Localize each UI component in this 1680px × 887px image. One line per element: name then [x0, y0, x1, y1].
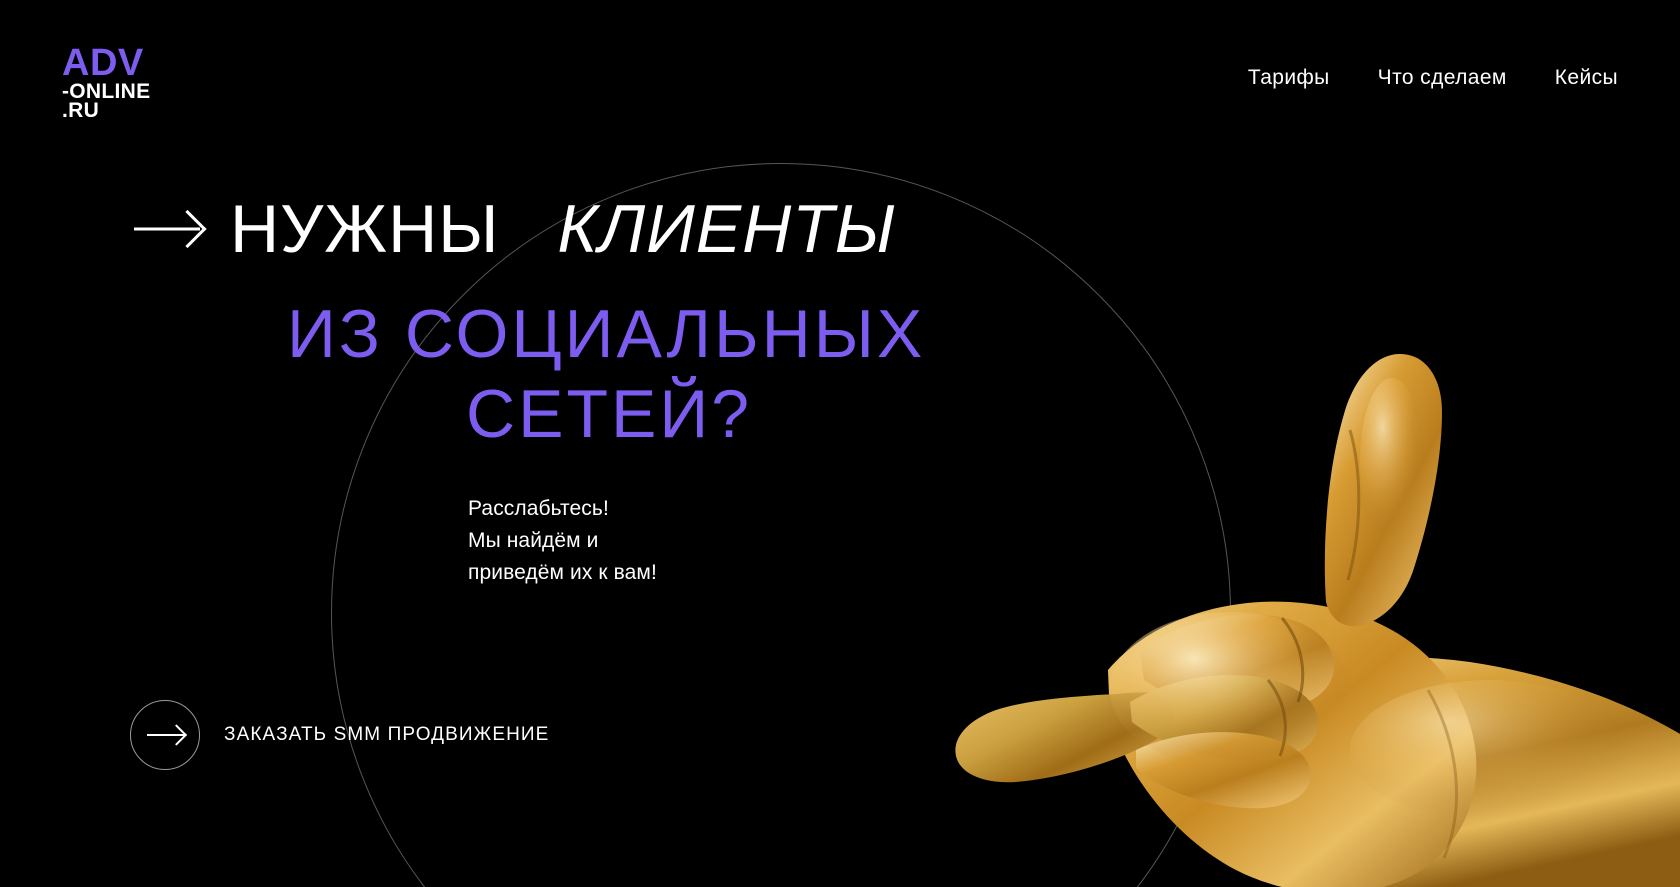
logo[interactable]: ADV -ONLINE .RU	[62, 44, 150, 121]
hero-subtext-line-3: приведём их к вам!	[468, 557, 657, 589]
logo-ru-text: .RU	[62, 100, 150, 121]
hero-subtext: Расслабьтесь! Мы найдём и приведём их к …	[468, 493, 657, 589]
nav-item-tariffs[interactable]: Тарифы	[1248, 66, 1330, 90]
arrow-right-icon	[134, 212, 202, 246]
logo-adv-text: ADV	[62, 44, 150, 82]
headline-line-2: ИЗ СОЦИАЛЬНЫХ	[287, 300, 925, 368]
nav-item-cases[interactable]: Кейсы	[1555, 66, 1618, 90]
main-navigation: Тарифы Что сделаем Кейсы	[1248, 66, 1618, 90]
arrow-right-icon[interactable]	[130, 700, 200, 770]
cta-label: ЗАКАЗАТЬ SMM ПРОДВИЖЕНИЕ	[224, 724, 549, 746]
site-header: ADV -ONLINE .RU Тарифы Что сделаем Кейсы	[0, 0, 1680, 150]
order-smm-promotion-button[interactable]: ЗАКАЗАТЬ SMM ПРОДВИЖЕНИЕ	[130, 700, 549, 770]
headline-line-3: СЕТЕЙ?	[466, 380, 752, 448]
hero-page: ADV -ONLINE .RU Тарифы Что сделаем Кейсы…	[0, 0, 1680, 887]
headline-line-1: НУЖНЫ КЛИЕНТЫ	[134, 195, 896, 263]
hero-subtext-line-1: Расслабьтесь!	[468, 493, 657, 525]
nav-item-services[interactable]: Что сделаем	[1378, 66, 1507, 90]
hero-subtext-line-2: Мы найдём и	[468, 525, 657, 557]
headline-word-needed: НУЖНЫ	[230, 195, 499, 263]
headline-word-clients: КЛИЕНТЫ	[557, 195, 896, 263]
